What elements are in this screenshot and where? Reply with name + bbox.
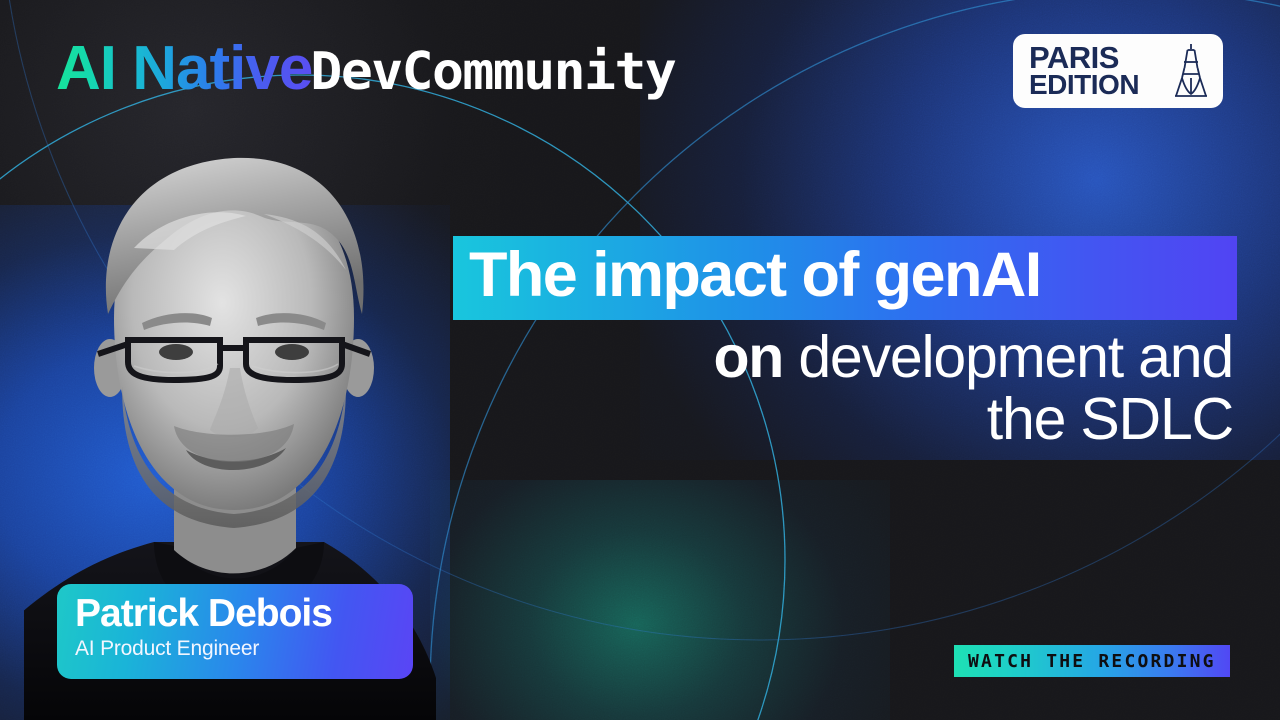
eiffel-tower-icon bbox=[1171, 42, 1211, 100]
title-line-2-rest: development and bbox=[783, 324, 1233, 390]
promo-slide: AI Native DevCommunity PARIS EDITION bbox=[0, 0, 1280, 720]
brand-logo: AI Native DevCommunity bbox=[56, 33, 672, 104]
paris-edition-line2: EDITION bbox=[1029, 72, 1139, 98]
logo-ai-native: AI Native bbox=[56, 33, 312, 104]
title-line-2-bold: on bbox=[713, 324, 783, 390]
title-highlight-bar: The impact of genAI bbox=[453, 236, 1237, 320]
paris-edition-line1: PARIS bbox=[1029, 44, 1139, 73]
speaker-role: AI Product Engineer bbox=[75, 637, 393, 661]
watch-recording-label: WATCH THE RECORDING bbox=[968, 651, 1216, 672]
paris-edition-badge: PARIS EDITION bbox=[1013, 34, 1223, 108]
logo-dev-community: DevCommunity bbox=[311, 42, 676, 102]
title-highlight-text: The impact of genAI bbox=[469, 240, 1041, 310]
title-remainder: on development and the SDLC bbox=[453, 326, 1237, 451]
speaker-badge: Patrick Debois AI Product Engineer bbox=[57, 584, 413, 679]
paris-edition-text: PARIS EDITION bbox=[1029, 44, 1139, 98]
title-line-2: on development and bbox=[453, 326, 1233, 389]
speaker-name: Patrick Debois bbox=[75, 594, 393, 635]
watch-recording-button[interactable]: WATCH THE RECORDING bbox=[954, 645, 1230, 677]
session-title: The impact of genAI on development and t… bbox=[453, 236, 1237, 451]
title-line-3: the SDLC bbox=[453, 388, 1233, 451]
